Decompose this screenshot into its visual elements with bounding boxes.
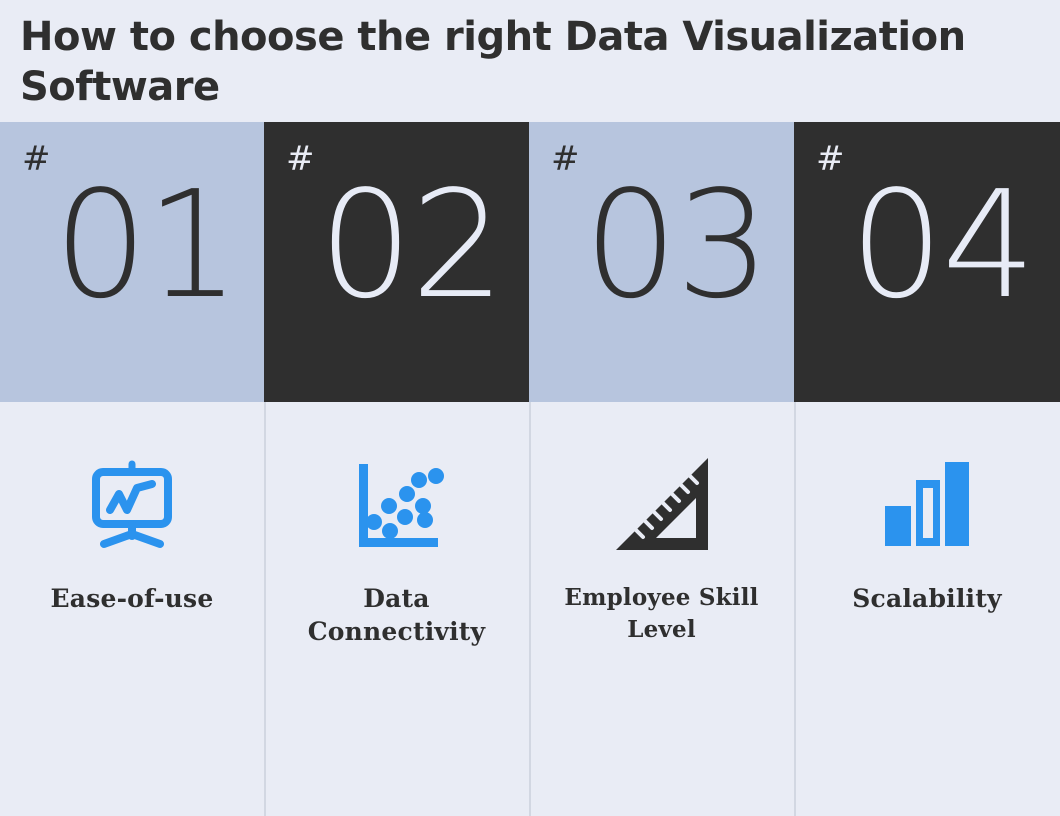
scatter-plot-icon: [264, 444, 529, 564]
feature-label: Data Connectivity: [264, 582, 529, 648]
feature-label: Employee Skill Level: [529, 582, 794, 646]
page-title: How to choose the right Data Visualizati…: [20, 12, 1010, 112]
number-block-04: # 04: [794, 122, 1060, 402]
step-number: 04: [850, 170, 1034, 320]
number-block-01: # 01: [0, 122, 264, 402]
number-block-02: # 02: [264, 122, 529, 402]
feature-column-4: Scalability: [794, 402, 1060, 816]
step-number: 01: [54, 170, 238, 320]
header: How to choose the right Data Visualizati…: [0, 0, 1060, 122]
presentation-chart-icon: [0, 444, 264, 564]
step-number: 02: [319, 170, 503, 320]
step-number: 03: [584, 170, 768, 320]
feature-label: Ease-of-use: [0, 582, 264, 615]
number-block-03: # 03: [529, 122, 794, 402]
feature-column-3: Employee Skill Level: [529, 402, 794, 816]
hash-icon: #: [286, 142, 315, 176]
feature-column-1: Ease-of-use: [0, 402, 264, 816]
feature-label: Scalability: [794, 582, 1060, 615]
set-square-ruler-icon: [529, 444, 794, 564]
bar-chart-icon: [794, 444, 1060, 564]
feature-column-2: Data Connectivity: [264, 402, 529, 816]
hash-icon: #: [816, 142, 845, 176]
hash-icon: #: [551, 142, 580, 176]
hash-icon: #: [22, 142, 51, 176]
infographic-page: How to choose the right Data Visualizati…: [0, 0, 1060, 816]
number-band: # 01 # 02 # 03 # 04: [0, 122, 1060, 402]
content-columns: Ease-of-use: [0, 402, 1060, 816]
